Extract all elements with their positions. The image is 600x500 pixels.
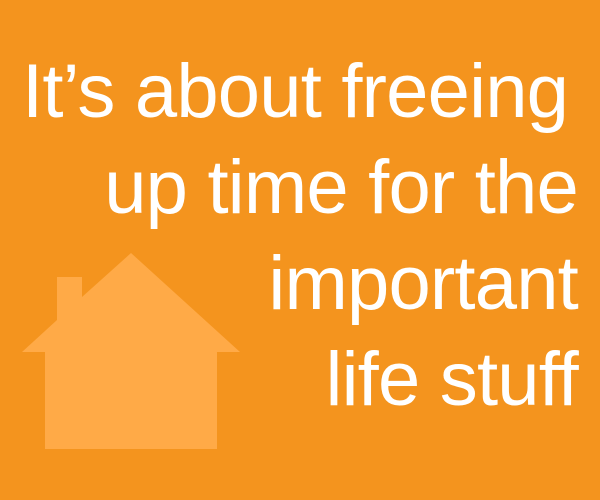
headline-line-1: It’s about freeing [22,44,578,140]
headline-line-2: up time for the [22,140,578,236]
headline-line-4: life stuff [22,332,578,428]
headline-line-3: important [22,236,578,332]
promotional-banner: It’s about freeing up time for the impor… [0,0,600,500]
headline-block: It’s about freeing up time for the impor… [0,0,600,500]
